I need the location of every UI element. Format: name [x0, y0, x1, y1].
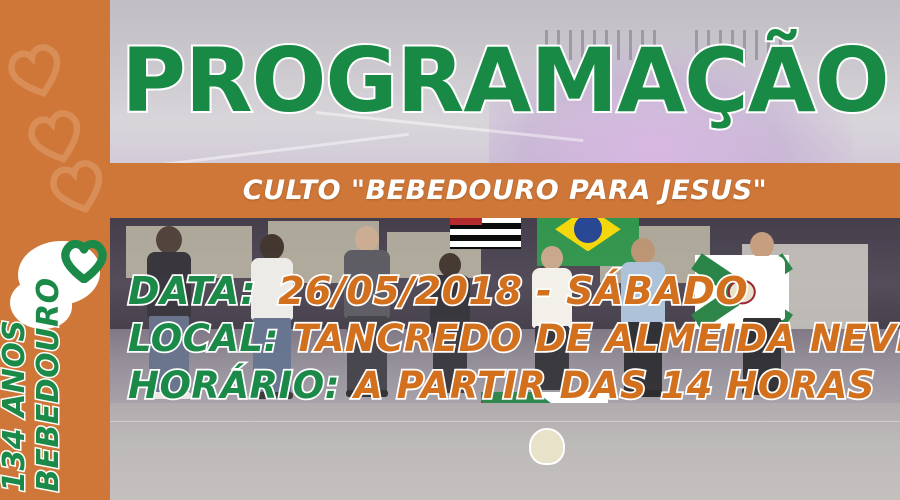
detail-row-local: LOCAL: TANCREDO DE ALMEIDA NEVES [128, 320, 900, 359]
detail-value-local: TANCREDO DE ALMEIDA NEVES [293, 320, 900, 359]
heart-icon [60, 237, 108, 283]
photo-floor [110, 403, 900, 500]
left-orange-rail: 134 ANOS BEBEDOURO [0, 0, 110, 500]
detail-row-horario: HORÁRIO: A PARTIR DAS 14 HORAS [128, 367, 900, 406]
logo-anos-text: 134 ANOS [0, 319, 32, 492]
poster-headline: PROGRAMAÇÃO [110, 22, 900, 140]
event-details: DATA: 26/05/2018 - SÁBADO LOCAL: TANCRED… [128, 272, 900, 406]
detail-value-horario: A PARTIR DAS 14 HORAS [354, 367, 875, 406]
headline-text: PROGRAMAÇÃO [121, 37, 888, 125]
event-poster: PROGRAMAÇÃO CULTO "BEBEDOURO PARA JESUS"… [0, 0, 900, 500]
detail-value-data: 26/05/2018 - SÁBADO [278, 272, 748, 312]
detail-row-data: DATA: 26/05/2018 - SÁBADO [128, 272, 900, 312]
subtitle-text: CULTO "BEBEDOURO PARA JESUS" [243, 175, 767, 206]
detail-label-data: DATA: [128, 272, 256, 312]
detail-label-local: LOCAL: [128, 320, 279, 359]
detail-label-horario: HORÁRIO: [128, 367, 340, 406]
subtitle-band: CULTO "BEBEDOURO PARA JESUS" [110, 163, 900, 218]
heart-icon [0, 34, 73, 106]
bebedouro-anniversary-logo: 134 ANOS BEBEDOURO [2, 235, 110, 500]
logo-city-text: BEBEDOURO [31, 277, 66, 492]
